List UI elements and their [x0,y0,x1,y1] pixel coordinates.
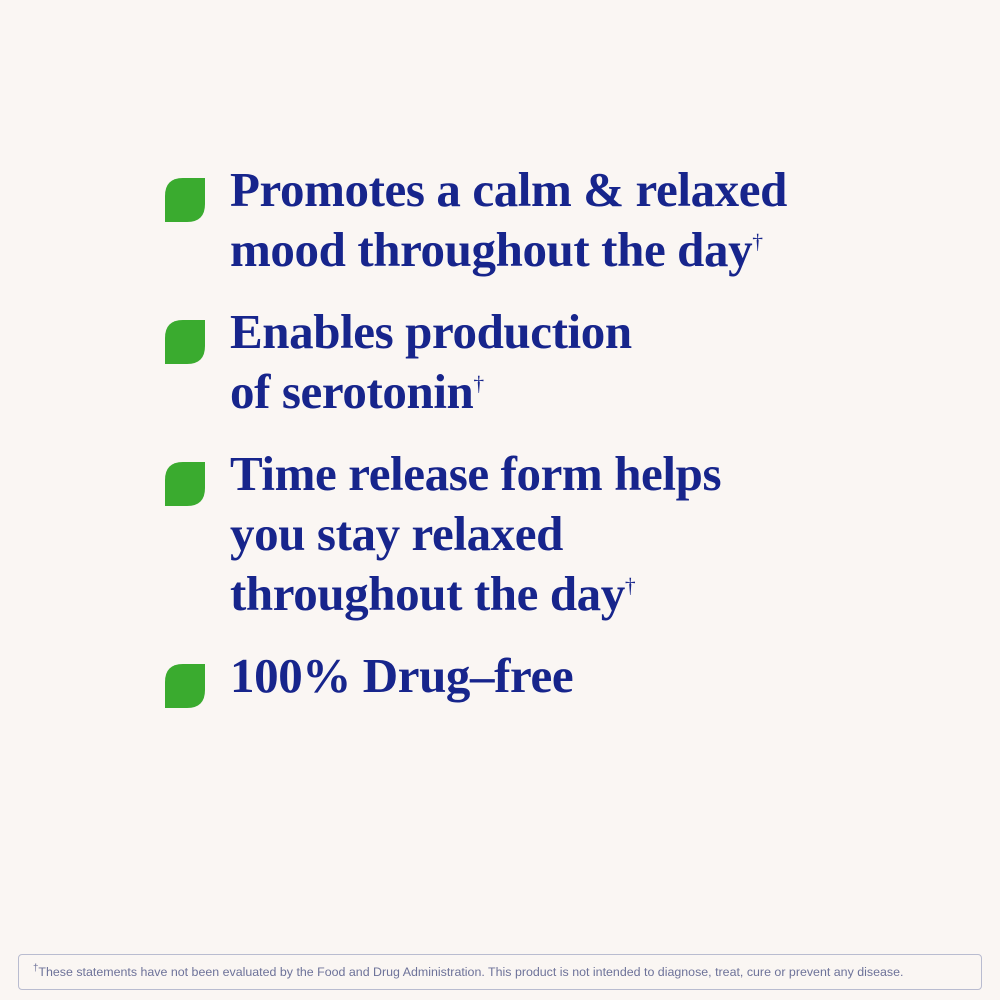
benefits-list: Promotes a calm & relaxed mood throughou… [0,160,1000,708]
footnote-marker: † [752,230,762,254]
benefit-item: Promotes a calm & relaxed mood throughou… [0,160,1000,280]
leaf-icon [165,178,205,222]
benefits-page: Promotes a calm & relaxed mood throughou… [0,0,1000,1000]
disclaimer-text: †These statements have not been evaluate… [33,964,903,980]
benefit-item: 100% Drug–free [0,646,1000,708]
benefit-label: 100% Drug–free [230,648,573,703]
benefit-text: Enables production of serotonin† [230,302,930,422]
disclaimer-box: †These statements have not been evaluate… [18,954,982,990]
footnote-marker: † [625,574,635,598]
benefit-item: Time release form helps you stay relaxed… [0,444,1000,624]
disclaimer-body: These statements have not been evaluated… [38,965,903,979]
benefit-label: Promotes a calm & relaxed mood throughou… [230,162,787,277]
leaf-icon [165,462,205,506]
benefit-label: Enables production of serotonin [230,304,632,419]
footnote-marker: † [473,372,483,396]
benefit-text: 100% Drug–free [230,646,930,706]
benefit-label: Time release form helps you stay relaxed… [230,446,721,621]
benefit-item: Enables production of serotonin† [0,302,1000,422]
benefit-text: Promotes a calm & relaxed mood throughou… [230,160,930,280]
benefit-text: Time release form helps you stay relaxed… [230,444,930,624]
leaf-icon [165,320,205,364]
leaf-icon [165,664,205,708]
